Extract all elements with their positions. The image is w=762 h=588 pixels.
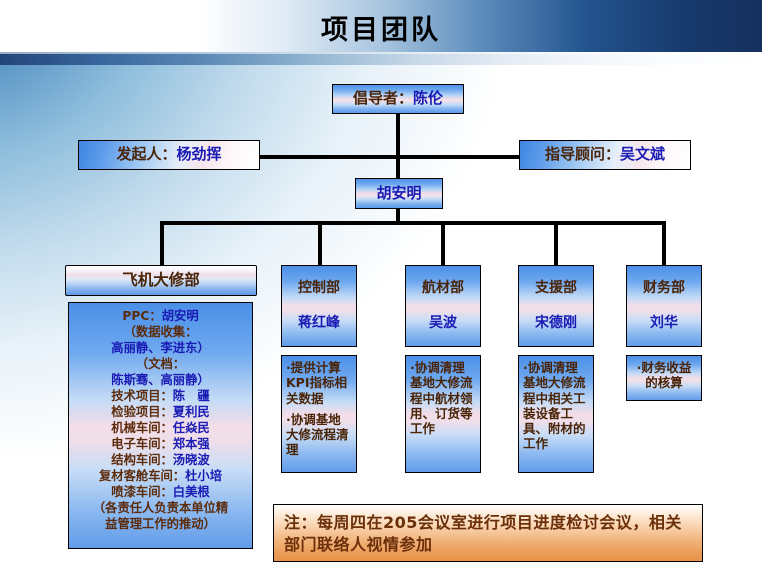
page-title: 项目团队 (0, 8, 762, 47)
ppc-key: （文档： (136, 357, 185, 371)
node-advisor-person: 吴文斌 (620, 146, 665, 164)
node-sponsor-role: 发起人： (116, 146, 176, 164)
ppc-key: 结构车间： (111, 453, 173, 467)
ppc-row: 电子车间：郑本强 (72, 437, 249, 453)
connector-drop-dept-2 (441, 221, 445, 265)
ppc-value: 陈 疆 (173, 389, 210, 403)
node-sponsor-person: 杨劲挥 (177, 146, 222, 164)
ppc-value: 杜小培 (185, 469, 222, 483)
dept-person: 刘华 (650, 315, 678, 332)
dept-name: 支援部 (535, 280, 577, 297)
connector-drop-dept-1 (318, 221, 322, 265)
ppc-key: （数据收集： (124, 325, 198, 339)
ppc-key: 技术项目： (111, 389, 173, 403)
connector-department-crossbar (160, 221, 666, 225)
panel-ppc-details[interactable]: PPC：胡安明 （数据收集： 高丽静、李进东） （文档： 陈斯骞、高丽静） 技术… (68, 302, 253, 549)
note-box[interactable]: 注：每周四在205会议室进行项目进度检讨会议，相关部门联络人视情参加 (273, 504, 703, 562)
ppc-key: 检验项目： (111, 405, 173, 419)
node-project-leader[interactable]: 胡安明 (355, 178, 443, 209)
ppc-row: 喷漆车间：白美根 (72, 485, 249, 501)
node-project-leader-person: 胡安明 (376, 185, 421, 203)
dept-person: 宋德刚 (535, 315, 577, 332)
node-champion[interactable]: 倡导者：陈伦 (332, 84, 464, 114)
ppc-row: 检验项目：夏利民 (72, 405, 249, 421)
header-underline (0, 52, 762, 65)
ppc-value: 郑本强 (173, 437, 210, 451)
ppc-key: （各责任人负责本单位精 (93, 501, 228, 515)
node-champion-role: 倡导者： (353, 90, 413, 108)
ppc-value: 白美根 (173, 485, 210, 499)
ppc-row: PPC：胡安明 (72, 309, 249, 325)
connector-sponsor-advisor-horizontal (258, 155, 522, 159)
node-advisor[interactable]: 指导顾问：吴文斌 (519, 140, 691, 170)
dept-detail-control[interactable]: ·提供计算KPI指标相关数据 ·协调基地大修流程清理 (281, 355, 357, 473)
slide-canvas: 项目团队 倡导者：陈伦 发起人：杨劲挥 指导顾问：吴文斌 胡安明 飞机大修部 P… (0, 0, 762, 588)
connector-drop-dept-4 (662, 221, 666, 265)
ppc-key: 益管理工作的推动） (105, 517, 216, 531)
ppc-key: 机械车间： (111, 421, 173, 435)
ppc-row: 高丽静、李进东） (72, 341, 249, 357)
ppc-row: 陈斯骞、高丽静） (72, 373, 249, 389)
dept-bullet: ·财务收益的核算 (631, 360, 697, 391)
node-champion-person: 陈伦 (413, 90, 443, 108)
node-advisor-role: 指导顾问： (545, 146, 620, 164)
ppc-row: （数据收集： (72, 325, 249, 341)
dept-name: 财务部 (643, 280, 685, 297)
ppc-key: PPC： (122, 309, 161, 323)
dept-bullet: ·协调清理基地大修流程中航材领用、订货等工作 (410, 360, 476, 436)
ppc-row: 机械车间：任焱民 (72, 421, 249, 437)
dept-name: 控制部 (298, 280, 340, 297)
ppc-key: 复材客舱车间： (99, 469, 185, 483)
ppc-key: 电子车间： (111, 437, 173, 451)
dept-person: 蒋红峰 (298, 315, 340, 332)
ppc-value: 陈斯骞、高丽静） (111, 373, 209, 387)
connector-leader-vertical-top (396, 155, 400, 179)
dept-detail-finance[interactable]: ·财务收益的核算 (626, 355, 702, 401)
ppc-value: 胡安明 (162, 309, 199, 323)
ppc-row: 结构车间：汤晓波 (72, 453, 249, 469)
ppc-row: 复材客舱车间：杜小培 (72, 469, 249, 485)
ppc-row: 技术项目：陈 疆 (72, 389, 249, 405)
dept-box-support[interactable]: 支援部 宋德刚 (518, 265, 594, 347)
ppc-value: 汤晓波 (173, 453, 210, 467)
ppc-key: 喷漆车间： (111, 485, 173, 499)
dept-detail-aviation-materials[interactable]: ·协调清理基地大修流程中航材领用、订货等工作 (405, 355, 481, 473)
section-header-aircraft-overhaul[interactable]: 飞机大修部 (65, 265, 257, 296)
dept-box-finance[interactable]: 财务部 刘华 (626, 265, 702, 347)
node-sponsor[interactable]: 发起人：杨劲挥 (78, 140, 260, 170)
ppc-value: 高丽静、李进东） (111, 341, 209, 355)
ppc-row: 益管理工作的推动） (72, 517, 249, 533)
dept-bullet: ·协调基地大修流程清理 (286, 412, 352, 458)
ppc-value: 任焱民 (173, 421, 210, 435)
dept-bullet: ·协调清理基地大修流程中相关工装设备工具、附材的工作 (523, 360, 589, 452)
note-text: 注：每周四在205会议室进行项目进度检讨会议，相关部门联络人视情参加 (284, 513, 682, 554)
dept-box-aviation-materials[interactable]: 航材部 吴波 (405, 265, 481, 347)
connector-drop-dept-0 (160, 221, 164, 265)
section-header-label: 飞机大修部 (122, 271, 200, 289)
dept-detail-support[interactable]: ·协调清理基地大修流程中相关工装设备工具、附材的工作 (518, 355, 594, 473)
ppc-row: （文档： (72, 357, 249, 373)
connector-drop-dept-3 (554, 221, 558, 265)
ppc-value: 夏利民 (173, 405, 210, 419)
dept-name: 航材部 (422, 280, 464, 297)
dept-person: 吴波 (429, 315, 457, 332)
dept-box-control[interactable]: 控制部 蒋红峰 (281, 265, 357, 347)
ppc-row: （各责任人负责本单位精 (72, 501, 249, 517)
dept-bullet: ·提供计算KPI指标相关数据 (286, 360, 352, 406)
